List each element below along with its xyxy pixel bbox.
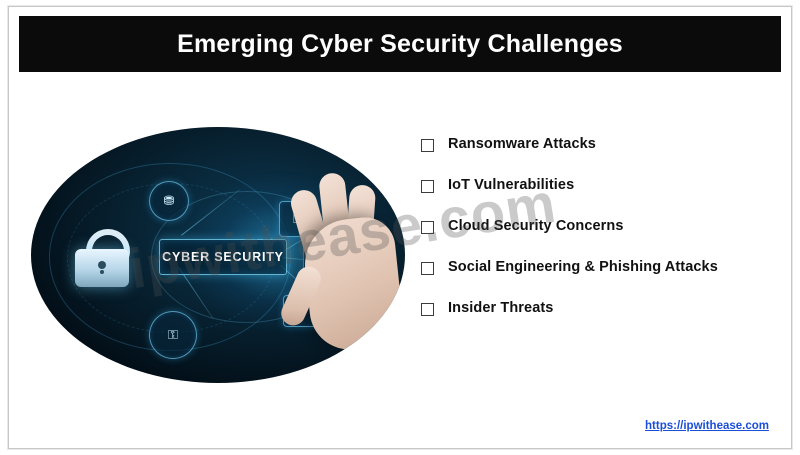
slide-title-bar: Emerging Cyber Security Challenges (19, 16, 781, 72)
list-item-label: Cloud Security Concerns (448, 217, 624, 236)
page-title: Emerging Cyber Security Challenges (177, 30, 623, 59)
database-icon: ⛃ (149, 181, 189, 221)
list-item: Social Engineering & Phishing Attacks (421, 258, 777, 277)
hand-illustration (277, 161, 397, 351)
bullet-list: Ransomware Attacks IoT Vulnerabilities C… (421, 135, 777, 340)
illustration-ellipse: ⛃ ⎕ ⎕ ⎕ ⚿ CYBER SECURITY (31, 127, 405, 383)
list-item-label: Social Engineering & Phishing Attacks (448, 258, 718, 277)
list-item: Cloud Security Concerns (421, 217, 777, 236)
cyber-security-hub-label: CYBER SECURITY (162, 250, 284, 264)
site-link[interactable]: https://ipwithease.com (645, 420, 769, 432)
cyber-security-hub: CYBER SECURITY (159, 239, 287, 275)
list-item-label: Insider Threats (448, 299, 553, 318)
padlock-icon (75, 231, 129, 287)
list-item-label: IoT Vulnerabilities (448, 176, 574, 195)
checkbox-bullet-icon (421, 303, 434, 316)
list-item: Ransomware Attacks (421, 135, 777, 154)
key-icon: ⚿ (149, 311, 197, 359)
cyber-security-illustration: ⛃ ⎕ ⎕ ⎕ ⚿ CYBER SECURITY (31, 127, 405, 383)
checkbox-bullet-icon (421, 262, 434, 275)
list-item: Insider Threats (421, 299, 777, 318)
list-item: IoT Vulnerabilities (421, 176, 777, 195)
checkbox-bullet-icon (421, 139, 434, 152)
slide-canvas: Emerging Cyber Security Challenges ⛃ ⎕ ⎕… (8, 6, 792, 449)
checkbox-bullet-icon (421, 221, 434, 234)
list-item-label: Ransomware Attacks (448, 135, 596, 154)
checkbox-bullet-icon (421, 180, 434, 193)
padlock-keyhole (98, 261, 106, 269)
